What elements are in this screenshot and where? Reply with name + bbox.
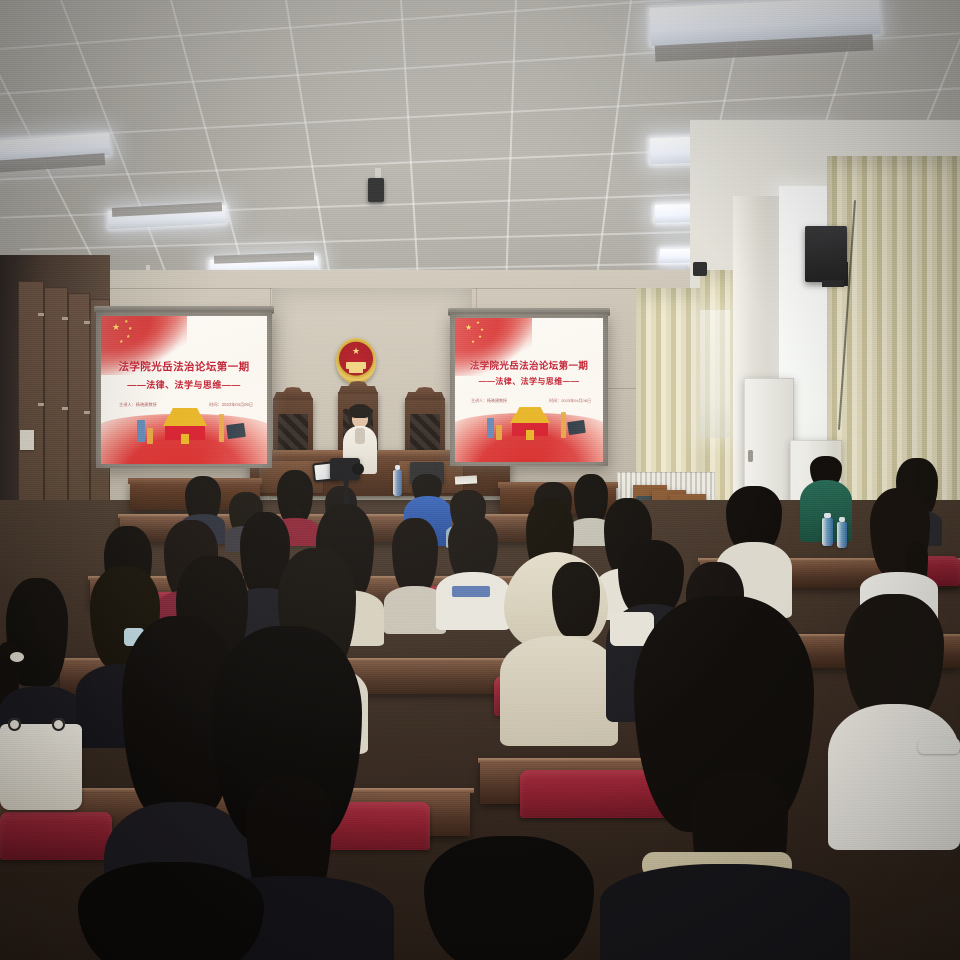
audience-member xyxy=(828,594,960,844)
water-bottle[interactable] xyxy=(837,522,847,548)
cabinet-handle[interactable] xyxy=(748,450,753,462)
slide-title: 法学院光岳法治论坛第一期 xyxy=(101,359,267,374)
lecture-hall-photo: Law School Guangyue Rule-of-Law Forum le… xyxy=(0,0,960,960)
right-projection-screen-frame: ★ ★ ★ ★ ★ 法学院光岳法治论坛第一期 ——法律、法学与思维—— 主讲人：… xyxy=(450,314,608,466)
tiananmen-roof xyxy=(510,414,550,423)
flag-star-icon: ★ xyxy=(124,320,128,325)
slide-title: 法学院光岳法治论坛第一期 xyxy=(455,358,603,372)
tiananmen-roof xyxy=(163,416,207,426)
ceiling-speaker-icon xyxy=(693,262,707,276)
left-projection-slide: ★ ★ ★ ★ ★ 法学院光岳法治论坛第一期 ——法律、法学与思维—— 主讲人：… xyxy=(101,316,267,464)
flag-star-icon: ★ xyxy=(478,335,482,340)
skyline-building xyxy=(226,423,246,439)
audience-member xyxy=(60,862,290,960)
flag-star-icon: ★ xyxy=(126,335,130,340)
slide-subtitle: ——法律、法学与思维—— xyxy=(455,376,603,387)
tiananmen-base xyxy=(526,430,534,440)
flag-star-icon: ★ xyxy=(465,324,472,332)
audience-member-foreground xyxy=(600,596,850,960)
skyline-tower xyxy=(219,414,224,442)
tiananmen-base xyxy=(181,434,189,444)
tiananmen-roof xyxy=(516,407,544,414)
skyline-building xyxy=(137,420,145,442)
water-bottle[interactable] xyxy=(822,518,833,546)
skyline-tower xyxy=(561,412,566,438)
skyline-building xyxy=(147,428,153,444)
left-projection-screen-frame: ★ ★ ★ ★ ★ 法学院光岳法治论坛第一期 ——法律、法学与思维—— 主讲人：… xyxy=(96,312,272,468)
auditorium-seat[interactable] xyxy=(0,812,112,860)
ceiling-camera-icon xyxy=(368,178,384,202)
slide-subtitle: ——法律、法学与思维—— xyxy=(101,378,267,391)
chinese-national-emblem-icon: ★ xyxy=(336,338,376,384)
window-curtain xyxy=(636,288,700,488)
slide-presenter: 主讲人：杨晓建教授 xyxy=(471,398,507,404)
tiananmen-roof xyxy=(169,408,201,416)
slide-date: 时间：2023年04月06日 xyxy=(549,398,591,404)
window-light xyxy=(700,310,730,438)
left-wall-switch[interactable] xyxy=(20,430,34,450)
bear-tote-bag[interactable] xyxy=(0,724,82,810)
right-projection-slide: ★ ★ ★ ★ ★ 法学院光岳法治论坛第一期 ——法律、法学与思维—— 主讲人：… xyxy=(455,318,603,462)
wall-speaker-icon xyxy=(805,226,847,282)
slide-presenter: 主讲人：杨晓建教授 xyxy=(119,402,157,408)
skyline-building xyxy=(567,420,586,435)
flag-star-icon: ★ xyxy=(480,328,484,333)
skyline-building xyxy=(487,418,494,438)
water-bottle[interactable] xyxy=(393,470,402,496)
video-camera-lens xyxy=(352,463,364,475)
audience-member xyxy=(436,516,510,628)
flag-star-icon: ★ xyxy=(471,340,475,345)
flag-star-icon: ★ xyxy=(128,327,132,332)
audience-member xyxy=(398,836,634,960)
flag-star-icon: ★ xyxy=(476,321,480,326)
desk-paper xyxy=(918,738,960,754)
bench-paper xyxy=(455,475,477,484)
flag-star-icon: ★ xyxy=(119,340,123,345)
skyline-building xyxy=(496,425,502,440)
flag-star-icon: ★ xyxy=(112,323,120,332)
slide-date: 时间：2023年04月06日 xyxy=(209,402,253,408)
